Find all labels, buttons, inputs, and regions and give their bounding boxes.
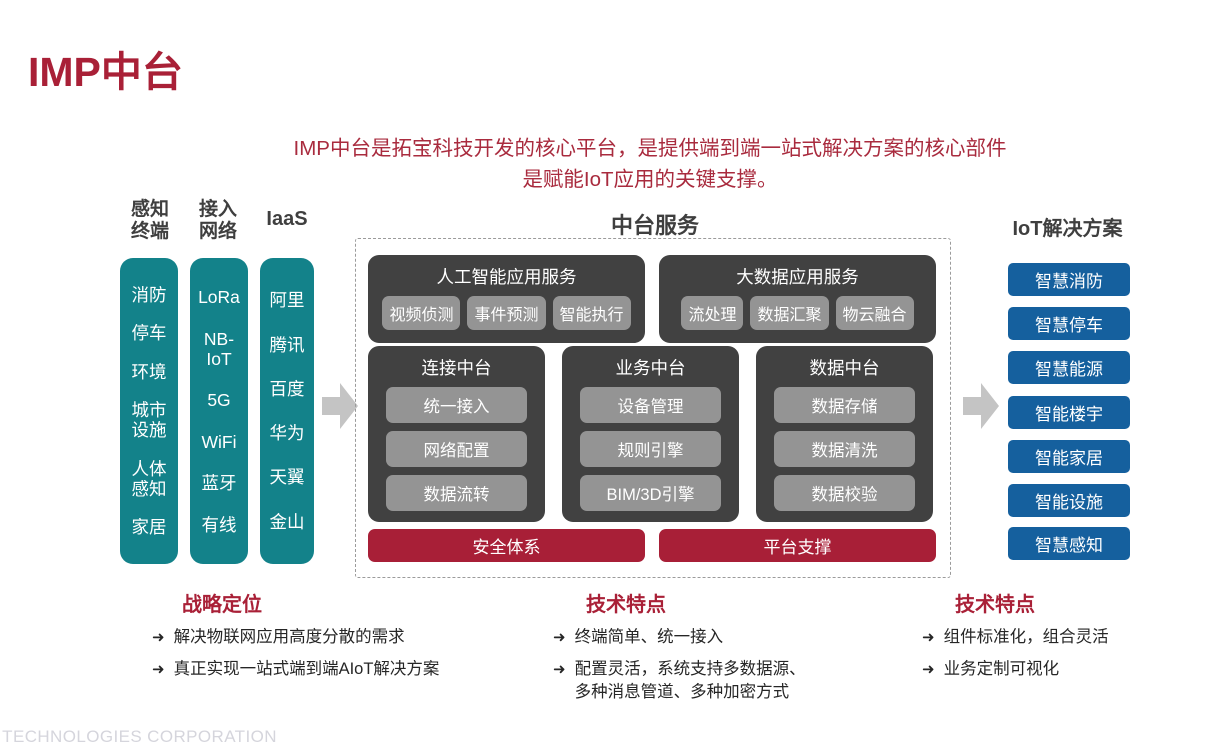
bullet-text: 配置灵活，系统支持多数据源、 多种消息管道、多种加密方式: [575, 658, 806, 704]
chip-item[interactable]: 事件预测: [467, 296, 545, 330]
list-item: 有线: [202, 515, 237, 535]
bullet-text: 真正实现一站式端到端AIoT解决方案: [174, 658, 440, 681]
bullet-arrow-icon: ➜: [553, 658, 566, 681]
solution-button-smart-energy[interactable]: 智慧能源: [1008, 351, 1130, 384]
card-business-platform: 业务中台 设备管理 规则引擎 BIM/3D引擎: [562, 346, 739, 522]
solution-button-smart-building[interactable]: 智能楼宇: [1008, 396, 1130, 429]
bullet-item: ➜ 真正实现一站式端到端AIoT解决方案: [152, 658, 439, 681]
card-title: 数据中台: [810, 355, 880, 380]
column-header-iaas: IaaS: [256, 208, 318, 230]
bullet-item: ➜ 终端简单、统一接入: [553, 626, 806, 649]
chip-column: 数据存储 数据清洗 数据校验: [774, 387, 915, 523]
chip-item[interactable]: 数据汇聚: [750, 296, 828, 330]
chip-item[interactable]: 流处理: [681, 296, 743, 330]
bottom-section-strategic-positioning: 战略定位 ➜ 解决物联网应用高度分散的需求 ➜ 真正实现一站式端到端AIoT解决…: [152, 588, 439, 690]
subtitle: IMP中台是拓宝科技开发的核心平台，是提供端到端一站式解决方案的核心部件 是赋能…: [200, 133, 1100, 195]
bullet-arrow-icon: ➜: [152, 658, 165, 681]
teal-column-sensing-terminal: 消防 停车 环境 城市 设施 人体 感知 家居: [120, 258, 178, 564]
bullet-text: 解决物联网应用高度分散的需求: [174, 626, 405, 649]
chip-row: 视频侦测 事件预测 智能执行: [374, 296, 638, 339]
card-data-platform: 数据中台 数据存储 数据清洗 数据校验: [756, 346, 933, 522]
list-item: 5G: [207, 390, 230, 410]
chip-column: 统一接入 网络配置 数据流转: [386, 387, 527, 523]
chip-item[interactable]: 规则引擎: [580, 431, 721, 467]
bar-platform-support[interactable]: 平台支撑: [659, 529, 936, 562]
chip-column: 设备管理 规则引擎 BIM/3D引擎: [580, 387, 721, 523]
teal-column-access-network: LoRa NB- IoT 5G WiFi 蓝牙 有线: [190, 258, 248, 564]
card-bigdata-application-service: 大数据应用服务 流处理 数据汇聚 物云融合: [659, 255, 936, 343]
bar-security-system[interactable]: 安全体系: [368, 529, 645, 562]
teal-column-iaas: 阿里 腾讯 百度 华为 天翼 金山: [260, 258, 314, 564]
list-item: 人体 感知: [132, 459, 167, 499]
solution-button-smart-fire[interactable]: 智慧消防: [1008, 263, 1130, 296]
list-item: 阿里: [270, 290, 305, 310]
bottom-section-tech-features-center: 技术特点 ➜ 终端简单、统一接入 ➜ 配置灵活，系统支持多数据源、 多种消息管道…: [553, 588, 806, 713]
solution-button-smart-facility[interactable]: 智能设施: [1008, 484, 1130, 517]
chip-item[interactable]: 统一接入: [386, 387, 527, 423]
chip-item[interactable]: 数据清洗: [774, 431, 915, 467]
right-section-header: IoT解决方案: [975, 212, 1160, 241]
column-header-sensing-terminal: 感知 终端: [120, 199, 180, 243]
bullet-text: 业务定制可视化: [944, 658, 1060, 681]
section-title: 技术特点: [586, 588, 806, 617]
arrow-right-icon-right: [963, 381, 999, 431]
card-title: 人工智能应用服务: [437, 264, 577, 289]
chip-item[interactable]: 设备管理: [580, 387, 721, 423]
solution-button-smart-home[interactable]: 智能家居: [1008, 440, 1130, 473]
bullet-item: ➜ 解决物联网应用高度分散的需求: [152, 626, 439, 649]
chip-item[interactable]: 数据校验: [774, 475, 915, 511]
chip-row: 流处理 数据汇聚 物云融合: [673, 296, 921, 339]
list-item: WiFi: [202, 432, 237, 452]
slide-root: IMP中台 IMP中台是拓宝科技开发的核心平台，是提供端到端一站式解决方案的核心…: [0, 0, 1228, 752]
list-item: 环境: [132, 362, 167, 382]
card-title: 大数据应用服务: [736, 264, 859, 289]
bullet-item: ➜ 组件标准化，组合灵活: [922, 626, 1109, 649]
page-title: IMP中台: [28, 38, 183, 98]
section-title: 技术特点: [955, 588, 1109, 617]
center-section-title: 中台服务: [355, 208, 955, 240]
bullet-text: 终端简单、统一接入: [575, 626, 724, 649]
list-item: 百度: [270, 379, 305, 399]
list-item: 停车: [132, 323, 167, 343]
list-item: 蓝牙: [202, 473, 237, 493]
card-connection-platform: 连接中台 统一接入 网络配置 数据流转: [368, 346, 545, 522]
chip-item[interactable]: 智能执行: [553, 296, 631, 330]
chip-item[interactable]: 数据存储: [774, 387, 915, 423]
card-title: 连接中台: [422, 355, 492, 380]
footer-company-name: BO TECHNOLOGIES CORPORATION: [0, 727, 277, 747]
list-item: 金山: [270, 512, 305, 532]
list-item: LoRa: [198, 287, 240, 307]
list-item: 腾讯: [270, 335, 305, 355]
solution-button-smart-sensing[interactable]: 智慧感知: [1008, 527, 1130, 560]
list-item: 城市 设施: [132, 400, 167, 440]
arrow-right-icon-left: [322, 381, 358, 431]
bullet-item: ➜ 配置灵活，系统支持多数据源、 多种消息管道、多种加密方式: [553, 658, 806, 704]
bullet-arrow-icon: ➜: [553, 626, 566, 649]
list-item: 华为: [270, 423, 305, 443]
solution-button-smart-parking[interactable]: 智慧停车: [1008, 307, 1130, 340]
list-item: 家居: [132, 517, 167, 537]
section-title: 战略定位: [182, 588, 439, 617]
card-title: 业务中台: [616, 355, 686, 380]
card-ai-application-service: 人工智能应用服务 视频侦测 事件预测 智能执行: [368, 255, 645, 343]
bullet-arrow-icon: ➜: [922, 626, 935, 649]
bullet-arrow-icon: ➜: [922, 658, 935, 681]
chip-item[interactable]: 网络配置: [386, 431, 527, 467]
chip-item[interactable]: 视频侦测: [382, 296, 460, 330]
bullet-arrow-icon: ➜: [152, 626, 165, 649]
bottom-section-tech-features-right: 技术特点 ➜ 组件标准化，组合灵活 ➜ 业务定制可视化: [922, 588, 1109, 690]
chip-item[interactable]: BIM/3D引擎: [580, 475, 721, 511]
list-item: 天翼: [270, 467, 305, 487]
chip-item[interactable]: 数据流转: [386, 475, 527, 511]
subtitle-line-1: IMP中台是拓宝科技开发的核心平台，是提供端到端一站式解决方案的核心部件: [294, 137, 1007, 160]
chip-item[interactable]: 物云融合: [836, 296, 914, 330]
bullet-item: ➜ 业务定制可视化: [922, 658, 1109, 681]
column-header-access-network: 接入 网络: [188, 199, 248, 243]
list-item: 消防: [132, 285, 167, 305]
list-item: NB- IoT: [204, 329, 234, 369]
bullet-text: 组件标准化，组合灵活: [944, 626, 1109, 649]
subtitle-line-2: 是赋能IoT应用的关键支撑。: [200, 164, 1100, 195]
